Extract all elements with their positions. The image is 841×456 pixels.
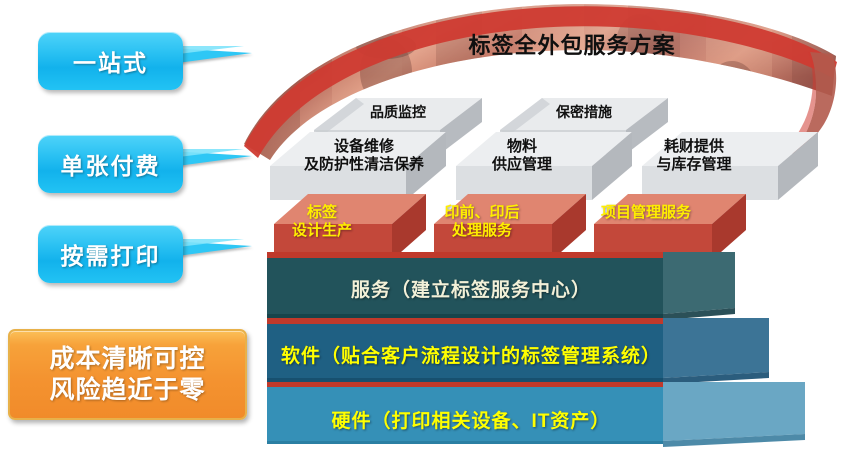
- callout-print-on-demand[interactable]: 按需打印: [38, 225, 183, 283]
- foundation-stack: 服务（建立标签服务中心） 软件（贴合客户流程设计的标签管理系统） 硬件（打印: [265, 252, 841, 440]
- slab-service[interactable]: 服务（建立标签服务中心）: [265, 252, 841, 324]
- highlight-box-cost-risk[interactable]: 成本清晰可控 风险趋近于零: [8, 329, 247, 420]
- callout-bubble[interactable]: 按需打印: [38, 225, 183, 283]
- slab-label: 硬件（打印相关设备、IT资产）: [265, 382, 677, 456]
- callout-bubble[interactable]: 单张付费: [38, 135, 183, 193]
- callout-label: 一站式: [73, 44, 148, 78]
- slab-software[interactable]: 软件（贴合客户流程设计的标签管理系统）: [265, 318, 841, 390]
- service-block-grid: 品质监控 保密措施 设备维修 及防护性清洁保养: [260, 92, 720, 272]
- slide-canvas: 标签全外包服务方案 一站式 单张付费 按需打印 成本清晰可控 风险趋近于零: [0, 0, 841, 440]
- callout-per-sheet-billing[interactable]: 单张付费: [38, 135, 183, 193]
- callout-bubble[interactable]: 一站式: [38, 32, 183, 90]
- banner-title: 标签全外包服务方案: [452, 28, 692, 60]
- slab-hardware[interactable]: 硬件（打印相关设备、IT资产）: [265, 382, 841, 456]
- slab-label: 服务（建立标签服务中心）: [265, 252, 677, 324]
- callout-label: 单张付费: [61, 147, 161, 181]
- callout-label: 按需打印: [61, 237, 161, 271]
- highlight-line-1: 成本清晰可控: [49, 344, 205, 375]
- callout-one-stop[interactable]: 一站式: [38, 32, 183, 90]
- highlight-line-2: 风险趋近于零: [49, 375, 205, 406]
- slab-label: 软件（贴合客户流程设计的标签管理系统）: [265, 318, 677, 390]
